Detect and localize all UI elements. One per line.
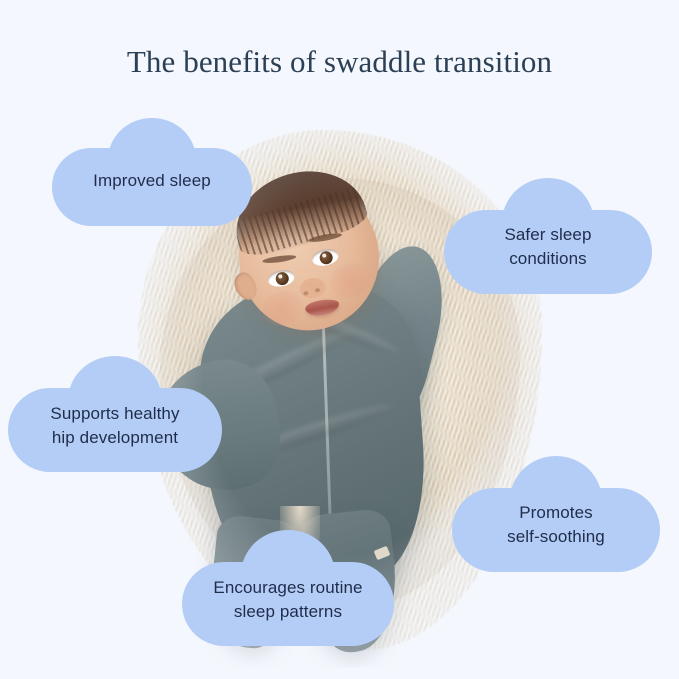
baby-ear xyxy=(230,269,261,303)
cloud-callout-encourages-routine: Encourages routine sleep patterns xyxy=(182,530,394,646)
cloud-label: Encourages routine sleep patterns xyxy=(213,552,362,624)
cloud-callout-improved-sleep: Improved sleep xyxy=(52,118,252,226)
cloud-callout-safer-sleep: Safer sleep conditions xyxy=(444,178,652,294)
cloud-label: Safer sleep conditions xyxy=(504,200,591,271)
baby-cheek xyxy=(325,258,375,302)
baby-mouth xyxy=(304,297,340,318)
baby-iris xyxy=(319,250,334,265)
cloud-callout-supports-hip-development: Supports healthy hip development xyxy=(8,356,222,472)
cloud-label: Supports healthy hip development xyxy=(50,378,179,450)
swaddle-benefits-infographic: The benefits of swaddle transition xyxy=(0,0,679,679)
baby-eyebrow xyxy=(262,254,297,265)
baby-eye xyxy=(266,268,295,288)
cloud-callout-promotes-self-soothing: Promotes self-soothing xyxy=(452,456,660,572)
cloud-label: Improved sleep xyxy=(93,151,211,193)
baby-eye xyxy=(310,247,340,268)
cloud-label: Promotes self-soothing xyxy=(507,478,605,549)
baby-iris xyxy=(275,271,290,286)
page-title: The benefits of swaddle transition xyxy=(0,44,679,80)
baby-nose xyxy=(298,276,327,300)
